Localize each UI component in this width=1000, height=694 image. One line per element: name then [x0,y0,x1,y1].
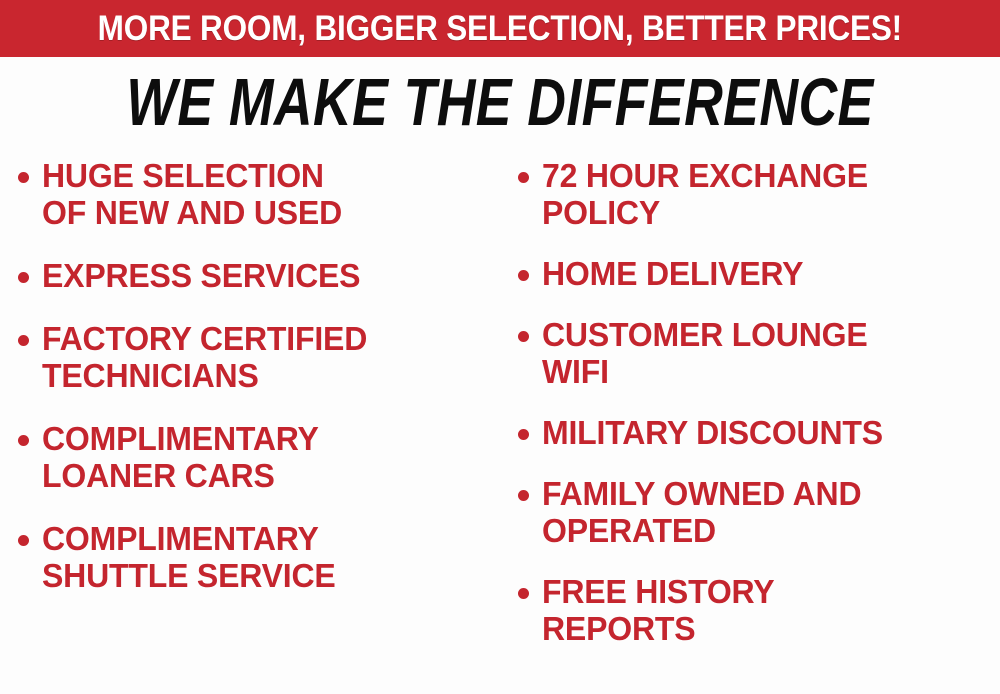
list-item: FREE HISTORY REPORTS [518,574,996,648]
list-item-label: COMPLIMENTARY SHUTTLE SERVICE [42,521,336,595]
list-item-label: MILITARY DISCOUNTS [542,415,883,452]
list-item-label: CUSTOMER LOUNGE WIFI [542,317,868,391]
bullet-dot-icon [518,490,529,501]
list-item: CUSTOMER LOUNGE WIFI [518,317,996,391]
bullet-dot-icon [518,429,529,440]
list-item-label: FREE HISTORY REPORTS [542,574,774,648]
bullet-dot-icon [518,588,529,599]
list-item-label: 72 HOUR EXCHANGE POLICY [542,158,868,232]
list-item: MILITARY DISCOUNTS [518,415,996,452]
list-item-label: EXPRESS SERVICES [42,258,360,295]
top-banner-text: MORE ROOM, BIGGER SELECTION, BETTER PRIC… [98,11,902,46]
promo-poster: MORE ROOM, BIGGER SELECTION, BETTER PRIC… [0,0,1000,694]
benefits-columns: HUGE SELECTION OF NEW AND USED EXPRESS S… [0,158,1000,694]
list-item-label: HUGE SELECTION OF NEW AND USED [42,158,342,232]
list-item-label: FAMILY OWNED AND OPERATED [542,476,861,550]
page-title: WE MAKE THE DIFFERENCE [126,69,873,136]
top-banner: MORE ROOM, BIGGER SELECTION, BETTER PRIC… [0,0,1000,57]
list-item: FAMILY OWNED AND OPERATED [518,476,996,550]
list-item-label: FACTORY CERTIFIED TECHNICIANS [42,321,367,395]
list-item: 72 HOUR EXCHANGE POLICY [518,158,996,232]
headline-container: WE MAKE THE DIFFERENCE [0,62,1000,142]
bullet-dot-icon [518,270,529,281]
bullet-dot-icon [518,331,529,342]
list-item-label: HOME DELIVERY [542,256,803,293]
bullet-dot-icon [518,172,529,183]
list-item: HOME DELIVERY [518,256,996,293]
list-item-label: COMPLIMENTARY LOANER CARS [42,421,319,495]
